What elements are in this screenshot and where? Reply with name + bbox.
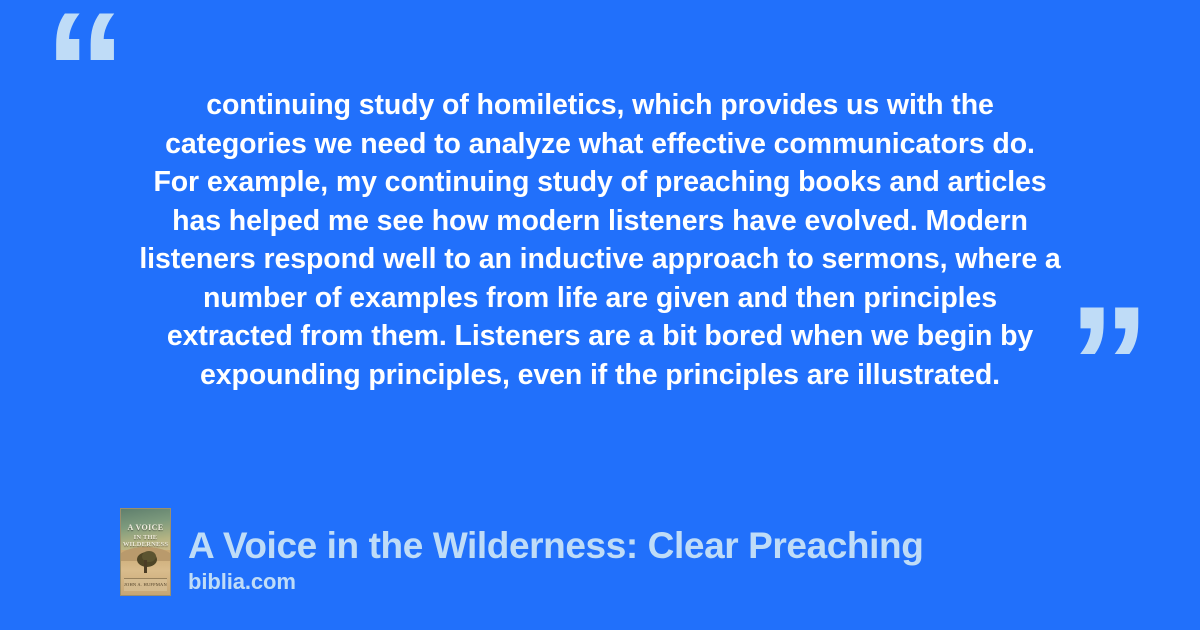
cover-title-line2: IN THE WILDERNESS xyxy=(121,534,170,548)
cover-author-bar: JOHN A. HUFFMAN xyxy=(124,578,167,591)
footer-text: A Voice in the Wilderness: Clear Preachi… xyxy=(188,524,923,596)
footer: A VOICE IN THE WILDERNESS JOHN A. HUFFMA… xyxy=(120,508,923,596)
book-title: A Voice in the Wilderness: Clear Preachi… xyxy=(188,524,923,567)
closing-quote-icon: ” xyxy=(1068,282,1151,447)
cover-title-line1: A VOICE xyxy=(121,523,170,532)
site-name: biblia.com xyxy=(188,568,923,596)
quote-card: “ continuing study of homiletics, which … xyxy=(0,0,1200,630)
cover-tree-trunk-icon xyxy=(144,560,147,573)
book-cover-thumbnail: A VOICE IN THE WILDERNESS JOHN A. HUFFMA… xyxy=(120,508,171,596)
cover-author-name: JOHN A. HUFFMAN xyxy=(124,579,167,591)
quote-text: continuing study of homiletics, which pr… xyxy=(110,86,1090,394)
quote-block: continuing study of homiletics, which pr… xyxy=(110,86,1090,394)
